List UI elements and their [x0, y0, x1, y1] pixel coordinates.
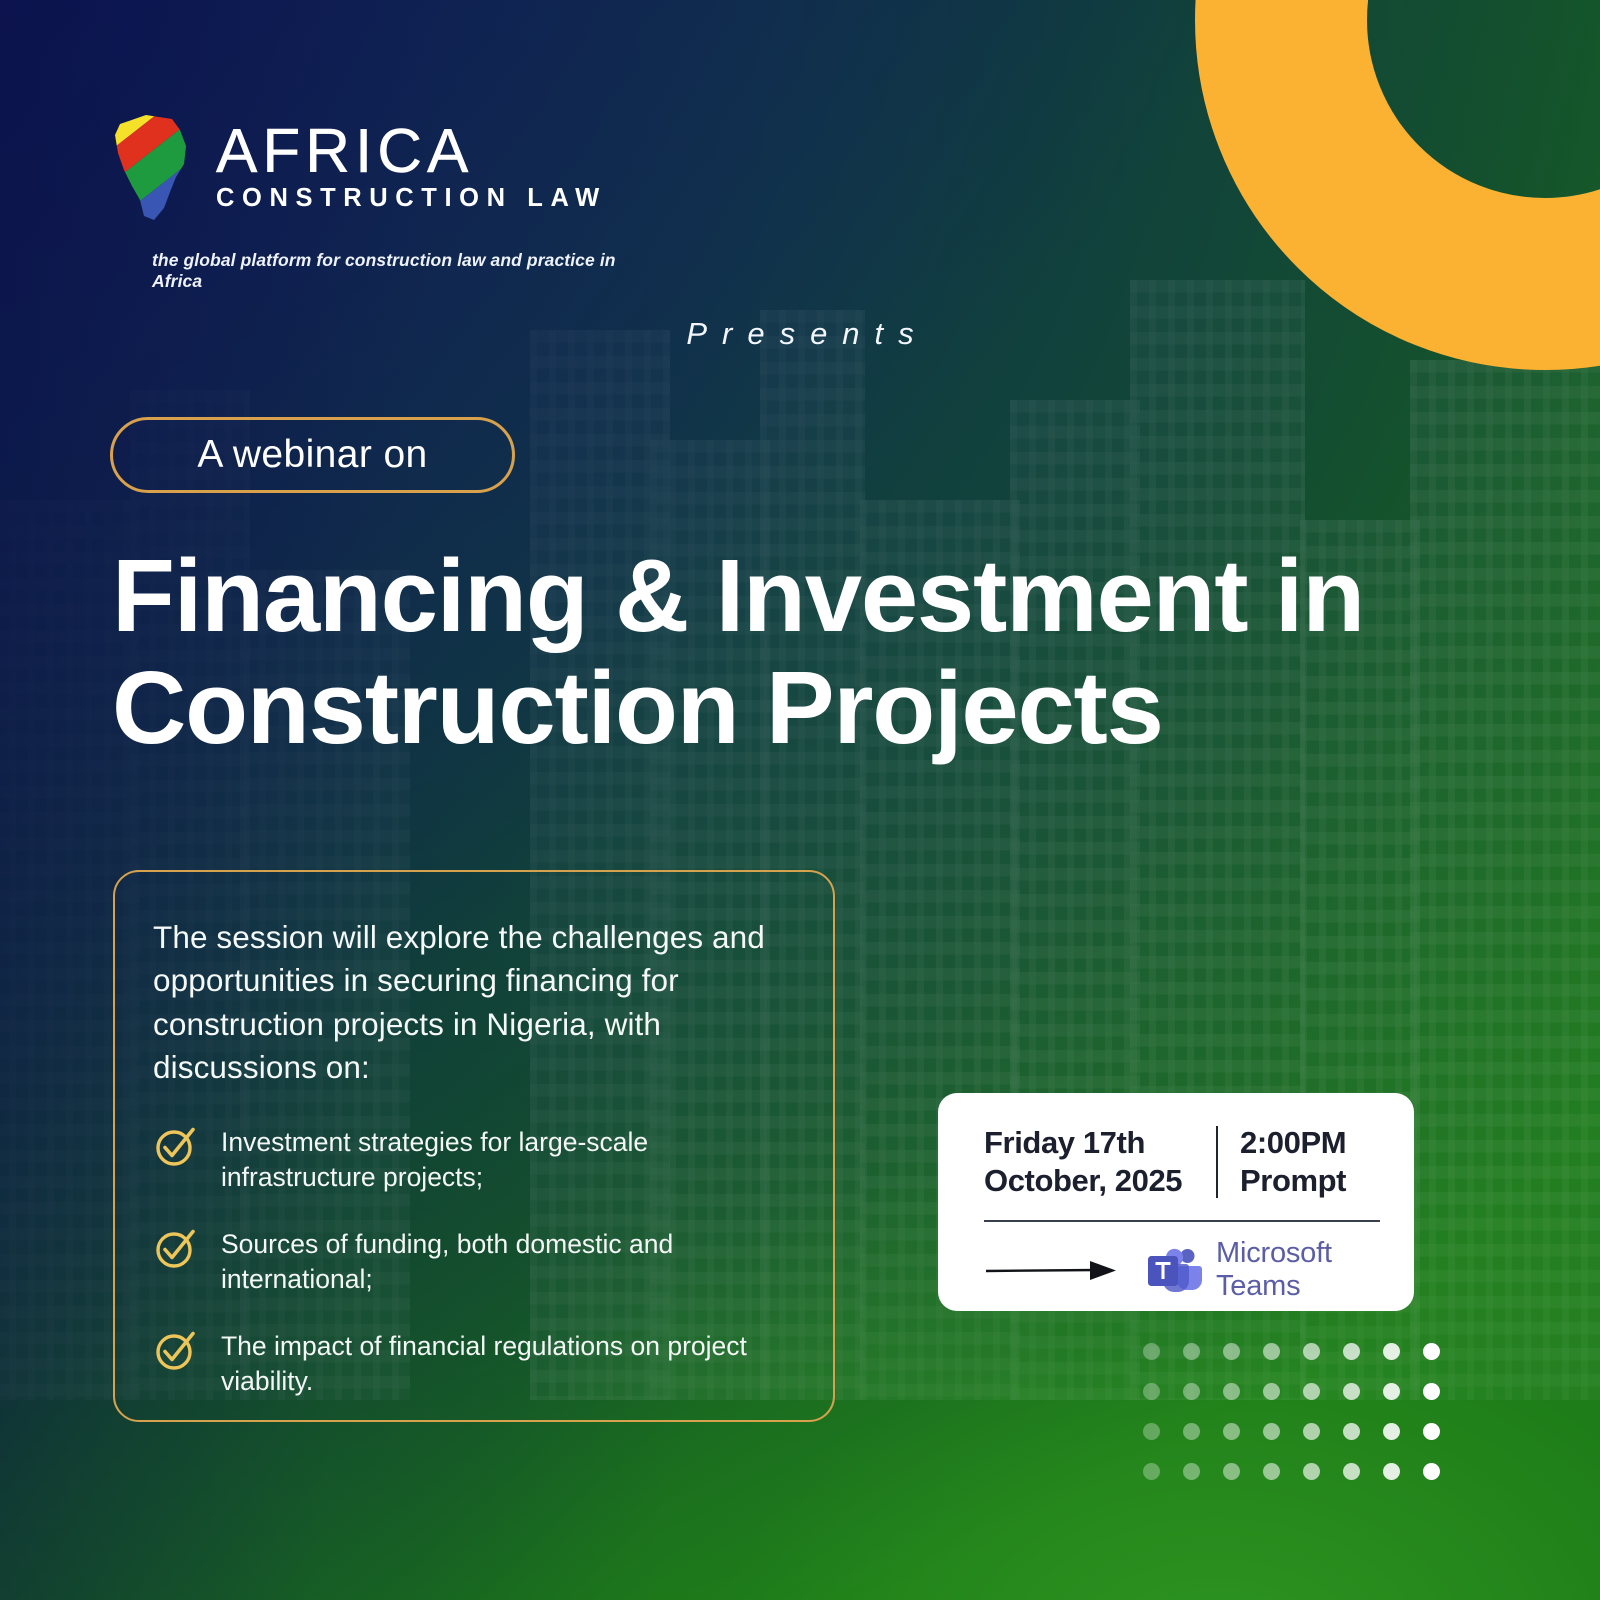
grid-dot — [1183, 1383, 1200, 1400]
grid-dot — [1183, 1343, 1200, 1360]
grid-dot — [1263, 1343, 1280, 1360]
brand-tagline: the global platform for construction law… — [152, 250, 626, 292]
grid-dot — [1143, 1463, 1160, 1480]
list-item-label: The impact of financial regulations on p… — [221, 1326, 793, 1399]
logo-wordmark: AFRICA — [216, 123, 607, 182]
grid-dot — [1383, 1383, 1400, 1400]
grid-dot — [1263, 1423, 1280, 1440]
description-box: The session will explore the challenges … — [113, 870, 835, 1422]
presents-label: Presents — [0, 316, 1600, 352]
dot-grid-pattern — [1143, 1343, 1463, 1503]
grid-dot — [1223, 1383, 1240, 1400]
list-item-label: Sources of funding, both domestic and in… — [221, 1224, 793, 1297]
check-circle-icon — [153, 1328, 197, 1372]
event-date-line2: October, 2025 — [984, 1162, 1216, 1200]
grid-dot — [1383, 1343, 1400, 1360]
event-time-line2: Prompt — [1240, 1162, 1346, 1200]
grid-dot — [1223, 1343, 1240, 1360]
event-time-line1: 2:00PM — [1240, 1124, 1346, 1162]
grid-dot — [1423, 1423, 1440, 1440]
arrow-right-icon — [984, 1257, 1132, 1283]
grid-dot — [1143, 1423, 1160, 1440]
list-item: Sources of funding, both domestic and in… — [153, 1224, 793, 1297]
webinar-poster: AFRICA CONSTRUCTION LAW the global platf… — [0, 0, 1600, 1600]
grid-dot — [1183, 1423, 1200, 1440]
grid-dot — [1423, 1343, 1440, 1360]
grid-dot — [1343, 1423, 1360, 1440]
grid-dot — [1263, 1463, 1280, 1480]
grid-dot — [1343, 1463, 1360, 1480]
brand-logo: AFRICA CONSTRUCTION LAW the global platf… — [106, 108, 626, 292]
check-circle-icon — [153, 1226, 197, 1270]
grid-dot — [1223, 1463, 1240, 1480]
grid-dot — [1383, 1423, 1400, 1440]
event-date: Friday 17th October, 2025 — [984, 1124, 1216, 1200]
page-title: Financing & Investment in Construction P… — [112, 540, 1412, 765]
list-item: Investment strategies for large-scale in… — [153, 1122, 793, 1195]
grid-dot — [1143, 1383, 1160, 1400]
grid-dot — [1223, 1423, 1240, 1440]
grid-dot — [1383, 1463, 1400, 1480]
grid-dot — [1183, 1463, 1200, 1480]
horizontal-divider — [984, 1220, 1380, 1222]
event-details-card: Friday 17th October, 2025 2:00PM Prompt — [938, 1093, 1414, 1311]
event-time: 2:00PM Prompt — [1240, 1124, 1346, 1200]
grid-dot — [1143, 1343, 1160, 1360]
list-item-label: Investment strategies for large-scale in… — [221, 1122, 793, 1195]
grid-dot — [1263, 1383, 1280, 1400]
logo-subtitle: CONSTRUCTION LAW — [216, 186, 607, 212]
microsoft-teams-icon — [1146, 1247, 1202, 1293]
grid-dot — [1303, 1343, 1320, 1360]
grid-dot — [1303, 1423, 1320, 1440]
grid-dot — [1343, 1343, 1360, 1360]
check-circle-icon — [153, 1124, 197, 1168]
platform-label: Microsoft Teams — [1216, 1237, 1380, 1303]
webinar-pill-label: A webinar on — [197, 433, 427, 477]
africa-map-icon — [106, 108, 198, 223]
grid-dot — [1423, 1383, 1440, 1400]
grid-dot — [1303, 1463, 1320, 1480]
webinar-pill: A webinar on — [110, 417, 515, 493]
grid-dot — [1343, 1383, 1360, 1400]
vertical-divider — [1216, 1126, 1218, 1198]
event-date-line1: Friday 17th — [984, 1124, 1216, 1162]
grid-dot — [1423, 1463, 1440, 1480]
description-lead: The session will explore the challenges … — [153, 916, 793, 1090]
bullet-list: Investment strategies for large-scale in… — [153, 1122, 793, 1399]
grid-dot — [1303, 1383, 1320, 1400]
list-item: The impact of financial regulations on p… — [153, 1326, 793, 1399]
